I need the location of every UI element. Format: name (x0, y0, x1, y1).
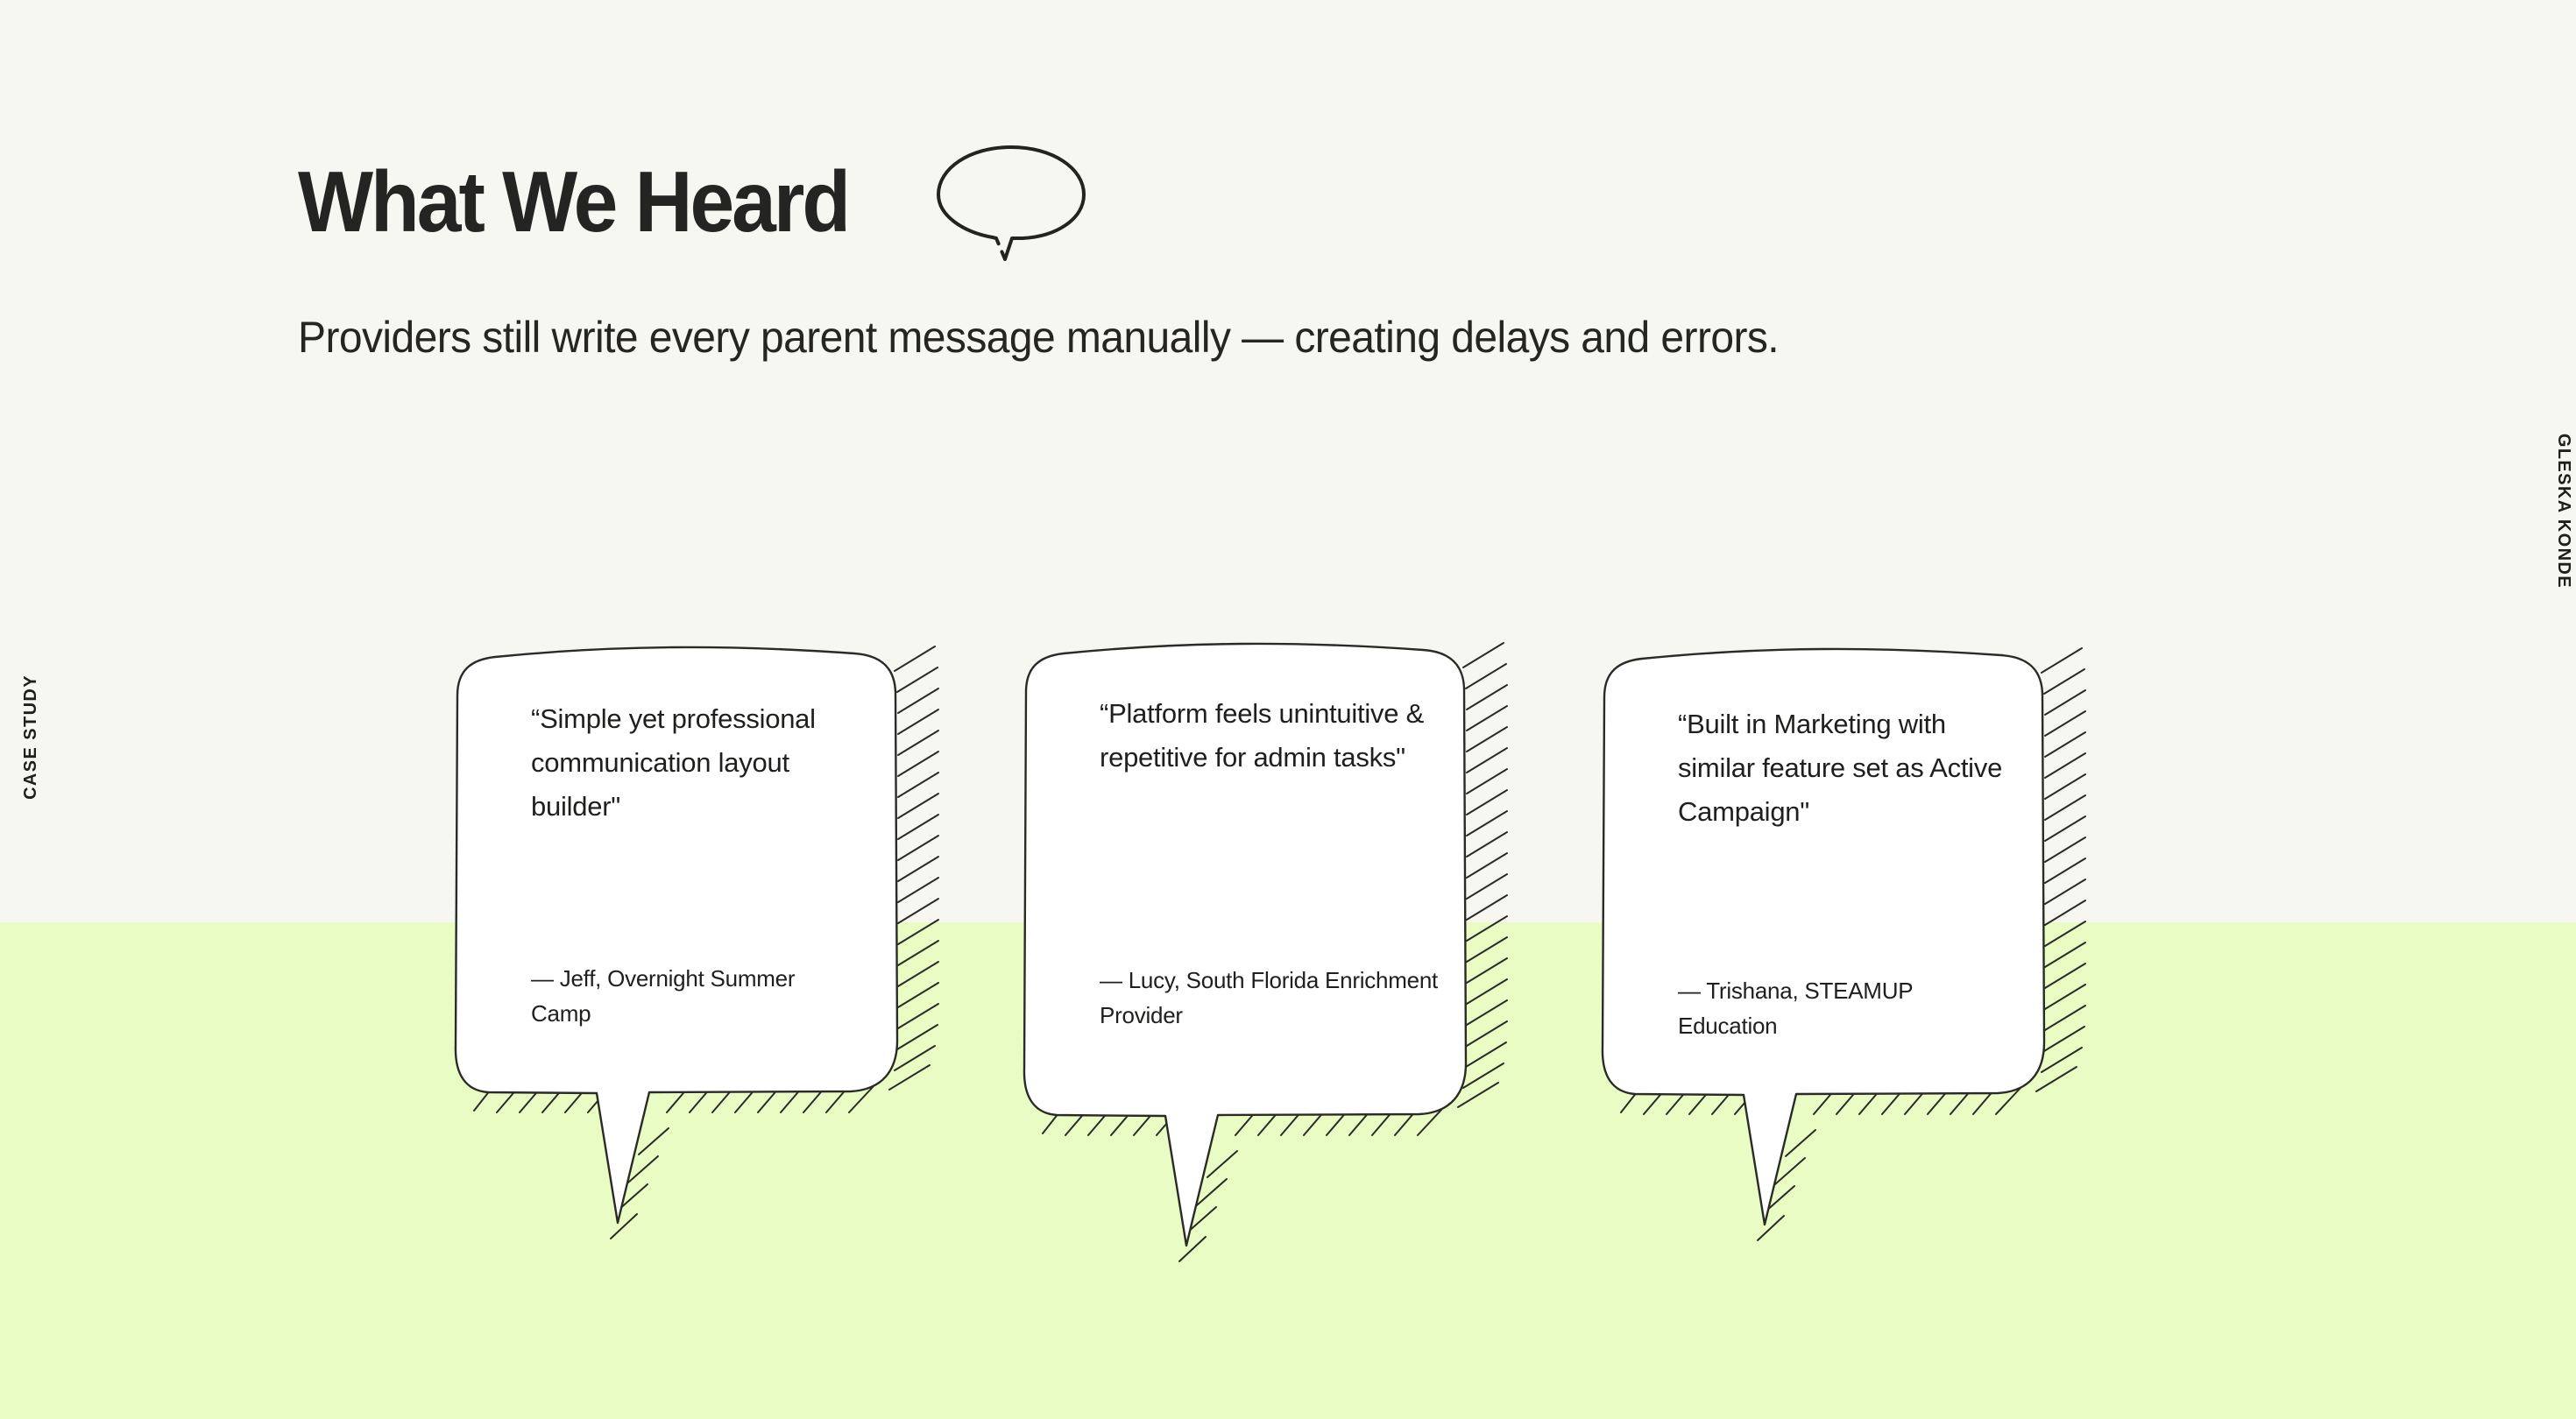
testimonial-attribution: — Jeff, Overnight Summer Camp (531, 962, 846, 1031)
testimonial-attribution: — Trishana, STEAMUP Education (1678, 974, 2011, 1043)
testimonial-attribution: — Lucy, South Florida Enrichment Provide… (1100, 964, 1450, 1033)
testimonial-quote: “Simple yet professional communication l… (531, 697, 846, 830)
slide-canvas: CASE STUDY GLESKA KONDE What We Heard Pr… (0, 0, 2576, 1419)
testimonials-group: “Simple yet professional communication l… (0, 0, 2576, 1419)
testimonial-quote: “Platform feels unintuitive & repetitive… (1100, 692, 1450, 780)
testimonial-card[interactable]: “Built in Marketing with similar feature… (1589, 638, 2115, 1255)
testimonial-quote: “Built in Marketing with similar feature… (1678, 702, 2011, 835)
testimonial-card[interactable]: “Platform feels unintuitive & repetitive… (1011, 632, 1537, 1285)
testimonial-card[interactable]: “Simple yet professional communication l… (442, 638, 968, 1255)
